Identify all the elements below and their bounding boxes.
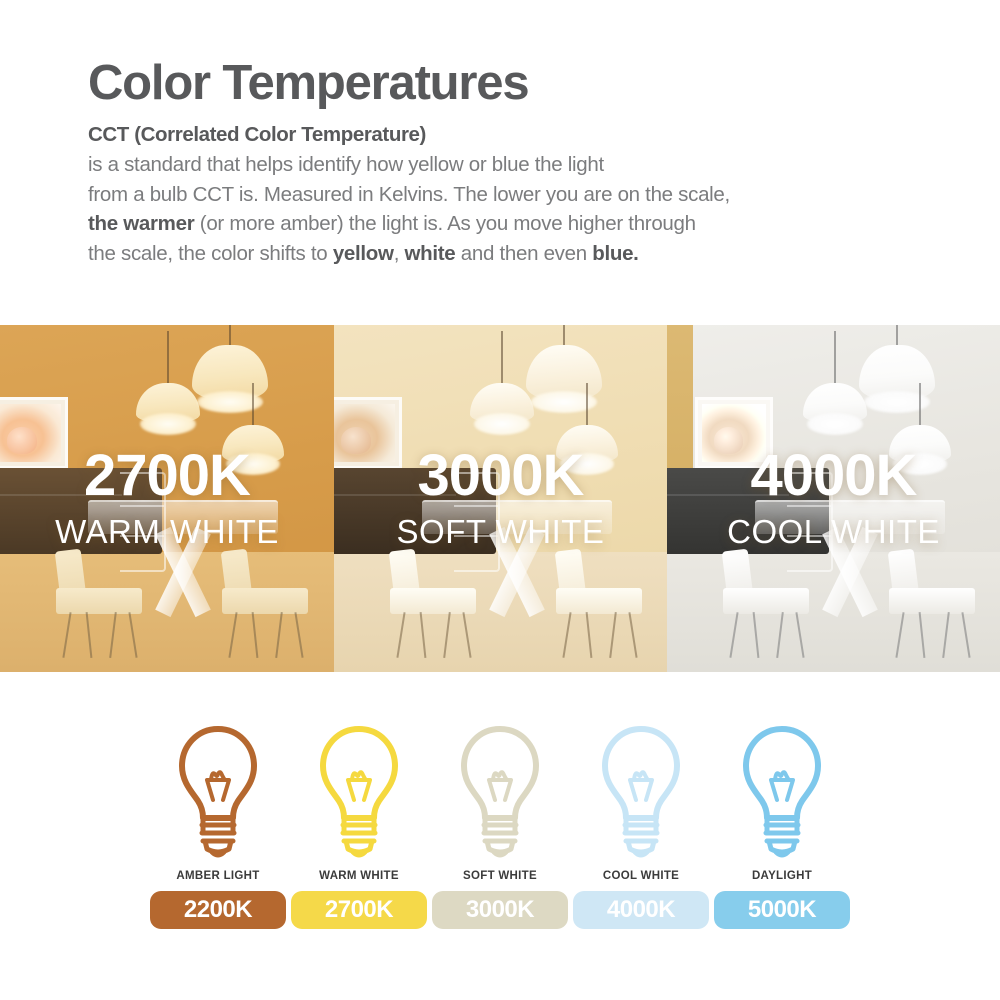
bulb-column-warm-white[interactable]: WARM WHITE 2700K — [291, 722, 427, 929]
panel-overlay-4000k: 4000K COOL WHITE — [667, 447, 1000, 548]
intro-line-1: is a standard that helps identify how ye… — [88, 150, 968, 180]
intro-line-3-rest: (or more amber) the light is. As you mov… — [194, 212, 695, 235]
light-bulb-icon — [593, 722, 689, 862]
light-bulb-icon — [170, 722, 266, 862]
panel-kelvin-value: 4000K — [667, 447, 1000, 505]
chair-right — [556, 552, 642, 658]
chair-seat — [222, 588, 308, 614]
lamp-cord — [229, 325, 231, 345]
panel-temperature-name: WARM WHITE — [0, 515, 334, 548]
photo-panel-3000k: 3000K SOFT WHITE — [334, 325, 667, 672]
lamp-glow — [474, 413, 530, 435]
chair-seat — [390, 588, 476, 614]
bulb-column-soft-white[interactable]: SOFT WHITE 3000K — [432, 722, 568, 929]
kelvin-pill[interactable]: 5000K — [714, 891, 850, 929]
page-title: Color Temperatures — [88, 58, 968, 109]
bulb-label: COOL WHITE — [603, 870, 679, 882]
lamp-glow — [140, 413, 196, 435]
light-bulb-icon — [311, 722, 407, 862]
chair-seat — [56, 588, 142, 614]
chair-seat — [723, 588, 809, 614]
light-bulb-icon — [452, 722, 548, 862]
lamp-cord — [586, 383, 588, 431]
chair-left — [56, 552, 142, 658]
lamp-cord — [563, 325, 565, 345]
chair-legs — [562, 612, 636, 658]
emphasis-yellow: yellow — [333, 242, 394, 265]
lamp-cord — [252, 383, 254, 431]
pendant-lamp-left — [136, 331, 200, 435]
chair-seat — [889, 588, 975, 614]
intro-line-2: from a bulb CCT is. Measured in Kelvins.… — [88, 180, 968, 210]
emphasis-warmer: the warmer — [88, 212, 194, 235]
chair-legs — [895, 612, 969, 658]
pendant-lamp-left — [803, 331, 867, 435]
intro-paragraph: is a standard that helps identify how ye… — [88, 150, 968, 268]
chair-legs — [228, 612, 302, 658]
chair-left — [723, 552, 809, 658]
bulb-column-amber-light[interactable]: AMBER LIGHT 2200K — [150, 722, 286, 929]
chair-right — [889, 552, 975, 658]
panel-temperature-name: SOFT WHITE — [334, 515, 667, 548]
lamp-cord — [896, 325, 898, 345]
kelvin-pill[interactable]: 3000K — [432, 891, 568, 929]
chair-seat — [556, 588, 642, 614]
panel-kelvin-value: 3000K — [334, 447, 667, 505]
kelvin-pill[interactable]: 2700K — [291, 891, 427, 929]
kelvin-pill[interactable]: 4000K — [573, 891, 709, 929]
comparison-photo-strip: 2700K WARM WHITE 3000K SOFT WHITE — [0, 325, 1000, 672]
bulb-label: SOFT WHITE — [463, 870, 537, 882]
kelvin-pill[interactable]: 2200K — [150, 891, 286, 929]
lamp-cord — [919, 383, 921, 431]
bulb-label: DAYLIGHT — [752, 870, 812, 882]
bulb-label: WARM WHITE — [319, 870, 399, 882]
intro-line-4: the scale, the color shifts to yellow, w… — [88, 239, 968, 269]
photo-panel-4000k: 4000K COOL WHITE — [667, 325, 1000, 672]
chair-legs — [396, 612, 470, 658]
panel-overlay-3000k: 3000K SOFT WHITE — [334, 447, 667, 548]
bulb-column-daylight[interactable]: DAYLIGHT 5000K — [714, 722, 850, 929]
intro-line-4-c: , — [394, 242, 405, 265]
lamp-glow — [807, 413, 863, 435]
panel-temperature-name: COOL WHITE — [667, 515, 1000, 548]
page-subtitle: CCT (Correlated Color Temperature) — [88, 123, 968, 148]
intro-line-4-d: and then even — [455, 242, 592, 265]
bulb-label: AMBER LIGHT — [176, 870, 259, 882]
chair-legs — [62, 612, 136, 658]
bulb-column-cool-white[interactable]: COOL WHITE 4000K — [573, 722, 709, 929]
kelvin-scale-row: AMBER LIGHT 2200K WARM WHITE 2700K — [150, 722, 850, 929]
header-section: Color Temperatures CCT (Correlated Color… — [88, 58, 968, 268]
chair-legs — [729, 612, 803, 658]
panel-overlay-2700k: 2700K WARM WHITE — [0, 447, 334, 548]
light-bulb-icon — [734, 722, 830, 862]
chair-left — [390, 552, 476, 658]
emphasis-white: white — [404, 242, 455, 265]
intro-line-3: the warmer (or more amber) the light is.… — [88, 209, 968, 239]
emphasis-blue: blue. — [592, 242, 638, 265]
chair-right — [222, 552, 308, 658]
intro-line-4-a: the scale, the color shifts to — [88, 242, 333, 265]
panel-kelvin-value: 2700K — [0, 447, 334, 505]
pendant-lamp-left — [470, 331, 534, 435]
photo-panel-2700k: 2700K WARM WHITE — [0, 325, 334, 672]
